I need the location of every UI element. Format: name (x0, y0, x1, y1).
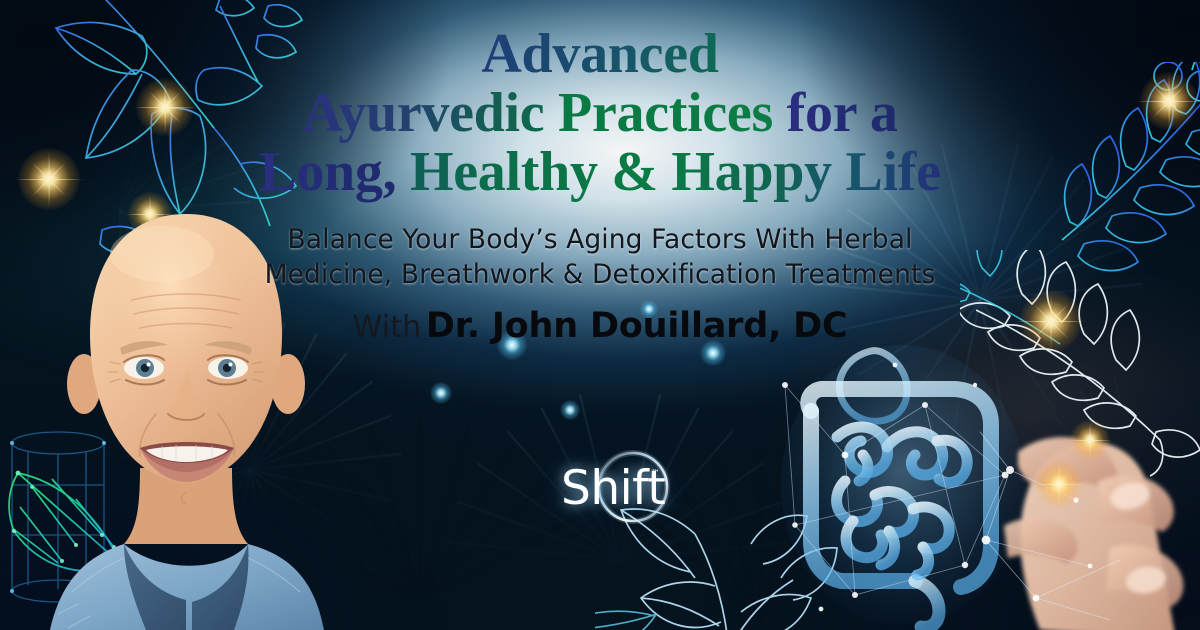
title-word-practices: Practices (558, 82, 787, 144)
title-line-2: Ayurvedic Practices for a (0, 85, 1200, 141)
title-word-long: Long, (259, 141, 410, 203)
promo-banner: Advanced Ayurvedic Practices for a Long,… (0, 0, 1200, 630)
hand-touching-interface (980, 330, 1200, 630)
shift-wordmark: Shift (561, 465, 665, 512)
subtitle: Balance Your Body’s Aging Factors With H… (0, 222, 1200, 292)
presenter-name: Dr. John Douillard, DC (426, 306, 848, 346)
title-word-healthy: Healthy (410, 141, 611, 203)
shift-trademark: ™ (651, 469, 660, 479)
subtitle-line-1: Balance Your Body’s Aging Factors With H… (0, 222, 1200, 257)
presenter-line: With Dr. John Douillard, DC (0, 306, 1200, 346)
title-word-ayurvedic: Ayurvedic (302, 82, 558, 144)
title-word-happy: Happy (671, 141, 845, 203)
presenter-prefix: With (352, 310, 421, 345)
title-word-for-a: for a (787, 82, 898, 144)
title-line-3: Long, Healthy & Happy Life (0, 144, 1200, 200)
title-word-advanced: Advanced (481, 23, 718, 85)
title-word-life: Life (845, 141, 940, 203)
shift-logo[interactable]: Shift ™ (533, 441, 683, 533)
page-title: Advanced Ayurvedic Practices for a Long,… (0, 26, 1200, 200)
title-word-ampersand: & (611, 141, 671, 203)
title-line-1: Advanced (0, 26, 1200, 82)
subtitle-line-2: Medicine, Breathwork & Detoxification Tr… (0, 257, 1200, 292)
